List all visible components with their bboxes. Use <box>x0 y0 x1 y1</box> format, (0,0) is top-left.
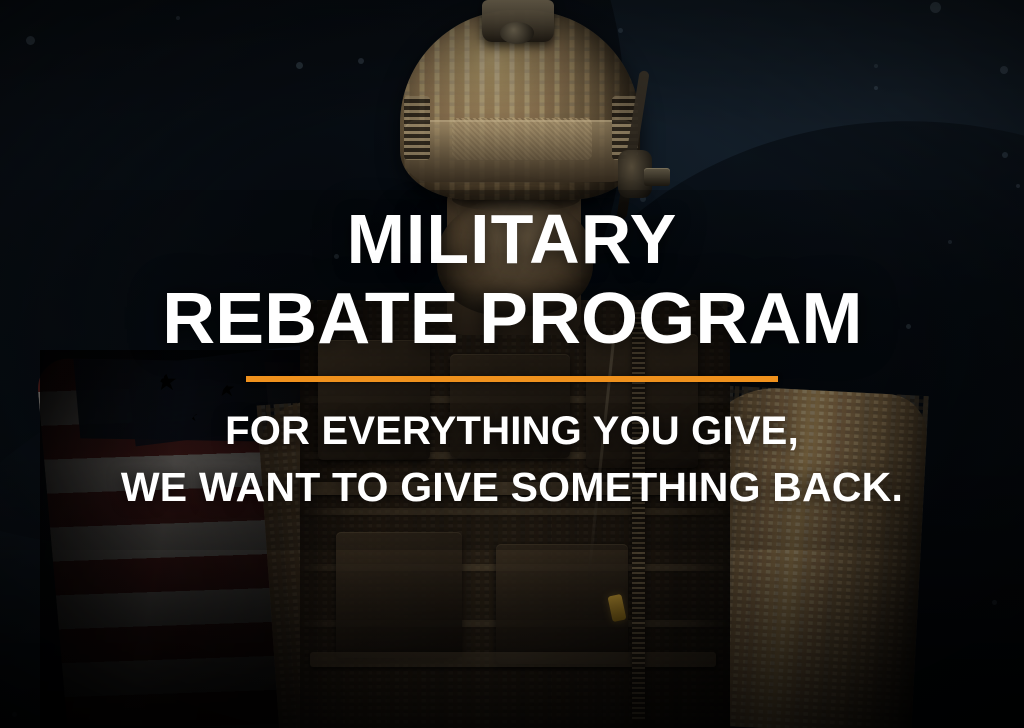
accent-divider <box>246 376 778 382</box>
military-rebate-banner: ★ ★ ★ ★ ★ <box>0 0 1024 728</box>
headline-line-1: MILITARY <box>347 206 678 273</box>
headline-line-2: REBATE PROGRAM <box>162 285 862 354</box>
subline-line-2: WE WANT TO GIVE SOMETHING BACK. <box>121 463 903 511</box>
banner-content: MILITARY REBATE PROGRAM FOR EVERYTHING Y… <box>0 0 1024 728</box>
subline-line-1: FOR EVERYTHING YOU GIVE, <box>225 408 799 455</box>
